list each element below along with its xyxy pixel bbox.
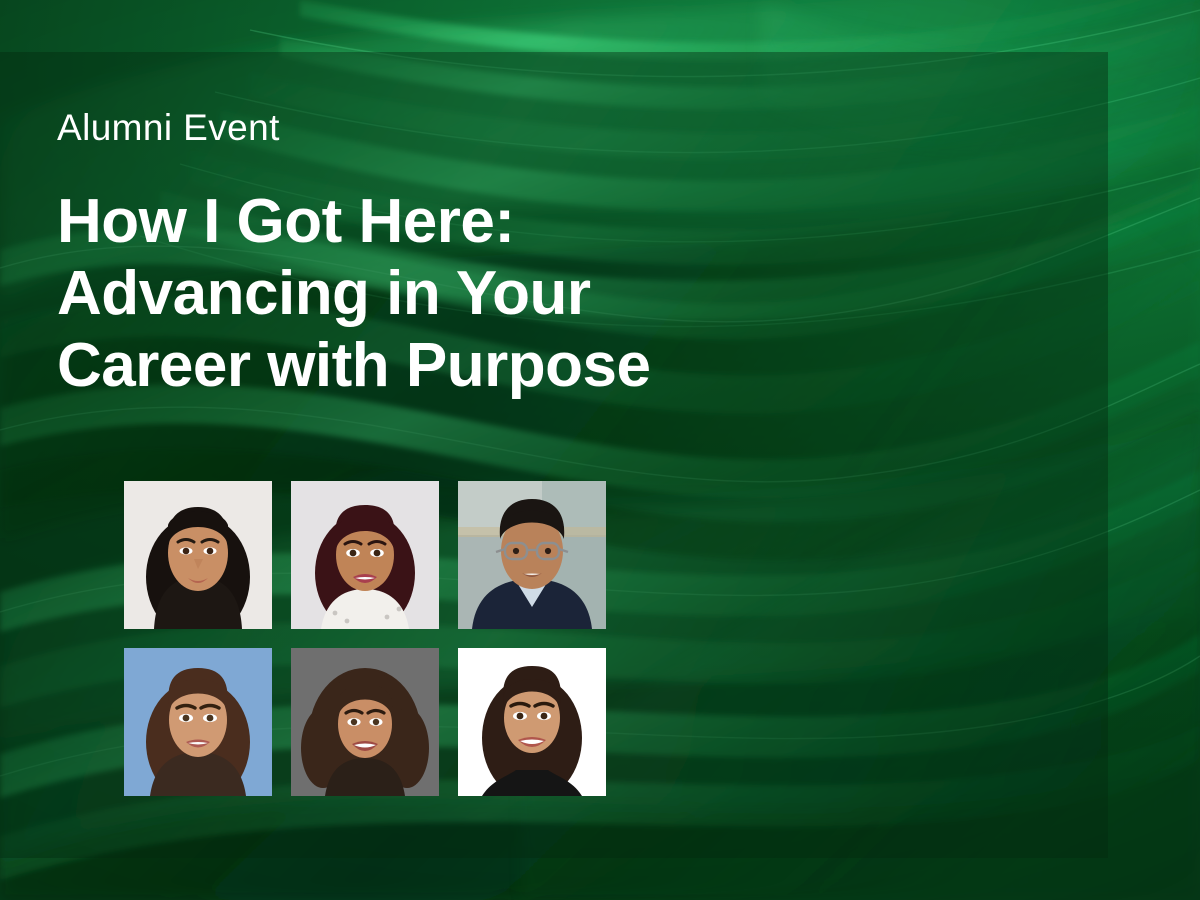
page-title: How I Got Here: Advancing in Your Career… xyxy=(57,186,857,402)
speaker-photo-4 xyxy=(124,648,272,796)
headline-line-2: Advancing in Your xyxy=(57,258,857,330)
headline-line-3: Career with Purpose xyxy=(57,330,857,402)
headline-line-1: How I Got Here: xyxy=(57,186,857,258)
speaker-photo-5 xyxy=(291,648,439,796)
speaker-photo-3 xyxy=(458,481,606,629)
speaker-photo-2 xyxy=(291,481,439,629)
speaker-photo-grid xyxy=(124,481,606,796)
event-promo-poster: Alumni Event How I Got Here: Advancing i… xyxy=(0,0,1200,900)
speaker-photo-6 xyxy=(458,648,606,796)
speaker-photo-1 xyxy=(124,481,272,629)
event-category-label: Alumni Event xyxy=(57,108,280,149)
poster-content: Alumni Event How I Got Here: Advancing i… xyxy=(57,0,957,900)
